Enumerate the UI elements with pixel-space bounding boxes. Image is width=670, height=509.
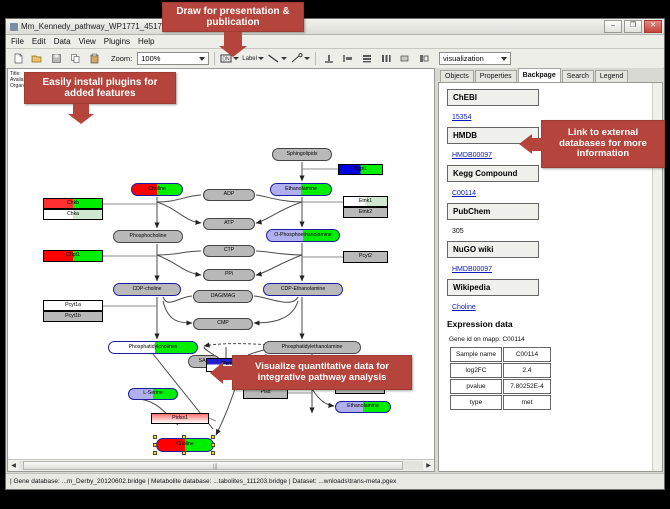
- callout-links-text: Link to external databases for more info…: [548, 128, 658, 161]
- selection-handle-s[interactable]: [182, 451, 186, 455]
- db-name-chebi: ChEBI: [447, 89, 539, 106]
- align-left-icon[interactable]: [340, 51, 356, 67]
- selection-handle-se[interactable]: [211, 451, 215, 455]
- menu-item-help[interactable]: Help: [138, 37, 154, 46]
- zoom-select[interactable]: 100%: [137, 52, 209, 65]
- receptor-tool[interactable]: [290, 53, 310, 64]
- pathway-node-label: ADP: [224, 192, 235, 197]
- expression-data-heading: Expression data: [447, 319, 654, 329]
- status-bar-text: | Gene database: ...m_Derby_20120602.bri…: [10, 478, 396, 485]
- menu-item-edit[interactable]: Edit: [32, 37, 46, 46]
- callout-visualize: Visualize quantitative data for integrat…: [232, 355, 412, 390]
- pathway-node-label: Ptdss1: [172, 416, 188, 421]
- callout-draw-stem: [224, 32, 242, 46]
- expression-gene-id: Gene id on mapp: C00114: [449, 336, 654, 343]
- pathway-node-atp[interactable]: ATP: [203, 218, 255, 230]
- pathway-node-etnk2[interactable]: Etnk2: [343, 207, 388, 218]
- pathway-node-ptdss1[interactable]: Ptdss1: [151, 413, 209, 424]
- expression-value-log2fc: 2.4: [503, 363, 551, 378]
- selection-handle-n[interactable]: [182, 435, 186, 439]
- pathway-node-phosphatidylethanolamine[interactable]: Phosphatidylethanolamine: [263, 341, 361, 354]
- open-folder-icon[interactable]: [29, 51, 45, 67]
- save-icon[interactable]: [48, 51, 64, 67]
- pathway-node-choline_selected[interactable]: Choline: [156, 438, 214, 452]
- pathway-node-label: Phosphocholine: [130, 234, 167, 239]
- pathway-node-label: CDP-Ethanolamine: [281, 287, 325, 292]
- menu-item-file[interactable]: File: [11, 37, 24, 46]
- pathway-node-label: O-Phosphoethanolamine: [274, 233, 331, 238]
- pathway-node-chkb[interactable]: Chkb: [43, 198, 103, 209]
- zoom-value: 100%: [141, 54, 160, 63]
- app-logo-icon: [10, 23, 18, 31]
- expression-key-type: type: [450, 395, 502, 410]
- callout-plugins-stem: [73, 104, 89, 114]
- pathway-node-pcyt1b[interactable]: Pcyt1b: [43, 311, 103, 322]
- pathway-node-cdpethanolamine[interactable]: CDP-Ethanolamine: [263, 283, 343, 296]
- pathway-node-label: ATP: [224, 221, 234, 226]
- line-tool[interactable]: [267, 53, 287, 64]
- pathway-node-phosphatidylcholines[interactable]: Phosphatidylcholines: [108, 341, 198, 354]
- stack-icon[interactable]: [359, 51, 375, 67]
- pathway-node-chpt1[interactable]: Chpt1: [43, 250, 103, 262]
- callout-visualize-arrow-icon: [210, 362, 223, 384]
- expression-key-sample-name: Sample name: [450, 347, 502, 362]
- size-icon[interactable]: [397, 51, 413, 67]
- db-link-kegg[interactable]: C00114: [452, 190, 476, 197]
- chevron-down-icon: [281, 57, 287, 60]
- scroll-grip-icon: |||: [213, 464, 218, 470]
- pathway-node-label: CTP: [224, 248, 234, 253]
- copy-icon[interactable]: [67, 51, 83, 67]
- pathway-canvas[interactable]: Title: Availa Organi: [7, 68, 435, 472]
- db-name-wikipedia: Wikipedia: [447, 279, 539, 296]
- pathway-node-label: Pcyt1a: [65, 303, 81, 308]
- tab-backpage[interactable]: Backpage: [518, 68, 561, 82]
- pathway-node-label: Phosphatidylethanolamine: [282, 345, 343, 350]
- callout-draw: Draw for presentation & publication: [162, 2, 304, 32]
- pathway-node-ethanolamine2[interactable]: Ethanolamine: [335, 401, 391, 413]
- db-link-hmdb[interactable]: HMDB00097: [452, 152, 492, 159]
- new-file-icon[interactable]: [10, 51, 26, 67]
- zoom-label: Zoom:: [111, 54, 132, 63]
- callout-links-arrow-icon: [519, 134, 532, 154]
- pathway-node-chka[interactable]: Chka: [43, 209, 103, 220]
- tab-legend[interactable]: Legend: [595, 70, 628, 82]
- scroll-left-icon[interactable]: ◀: [8, 461, 19, 471]
- paste-icon[interactable]: [86, 51, 102, 67]
- pathway-node-label: Etnk2: [359, 210, 372, 215]
- pathway-node-label: Sgpl1: [354, 167, 367, 172]
- pathway-node-label: Chkb: [67, 201, 79, 206]
- callout-visualize-text: Visualize quantitative data for integrat…: [239, 362, 405, 384]
- selection-handle-w[interactable]: [153, 443, 157, 447]
- expression-key-pvalue: pvalue: [450, 379, 502, 394]
- pathway-node-label: Phosphatidylcholines: [129, 345, 178, 350]
- svg-text:DN: DN: [223, 57, 231, 63]
- expression-value-type: met: [503, 395, 551, 410]
- db-link-chebi[interactable]: 15354: [452, 114, 471, 121]
- db-name-pubchem: PubChem: [447, 203, 539, 220]
- pathway-node-sgpl1[interactable]: Sgpl1: [338, 164, 383, 175]
- tab-properties[interactable]: Properties: [475, 70, 517, 82]
- toolbar-divider: [214, 52, 215, 65]
- pathway-node-label: Pisd: [260, 390, 270, 395]
- expression-value-sample-name: C00114: [503, 347, 551, 362]
- pathway-node-label: Etnk1: [359, 199, 372, 204]
- pathway-node-cmp[interactable]: CMP: [193, 318, 253, 330]
- pathway-node-pcyt1a[interactable]: Pcyt1a: [43, 300, 103, 311]
- pathway-node-adp[interactable]: ADP: [203, 189, 255, 201]
- side-panel-tabs: Objects Properties Backpage Search Legen…: [436, 68, 663, 82]
- callout-links: Link to external databases for more info…: [541, 120, 665, 168]
- pathway-node-ctp[interactable]: CTP: [203, 245, 255, 257]
- table-row: log2FC 2.4: [450, 363, 551, 378]
- pathway-node-label: Chpt1: [66, 253, 80, 258]
- pathway-node-dagmag[interactable]: DAG/MAG: [193, 290, 253, 303]
- pathway-node-sphingolipids[interactable]: Sphingolipids: [272, 148, 332, 161]
- expression-value-pvalue: 7.80252E-4: [503, 379, 551, 394]
- tab-objects[interactable]: Objects: [440, 70, 474, 82]
- callout-links-stem: [532, 138, 542, 151]
- minimize-button[interactable]: –: [604, 20, 622, 33]
- db-name-kegg: Kegg Compound: [447, 165, 539, 182]
- callout-plugins: Easily install plugins for added feature…: [24, 72, 176, 104]
- pathway-node-choline[interactable]: Choline: [131, 183, 183, 196]
- menu-item-plugins[interactable]: Plugins: [104, 37, 130, 46]
- chevron-down-icon: [501, 57, 507, 61]
- expression-key-log2fc: log2FC: [450, 363, 502, 378]
- expression-table: Sample name C00114 log2FC 2.4 pvalue 7.8…: [449, 346, 552, 411]
- db-link-wikipedia[interactable]: Choline: [452, 304, 476, 311]
- visualization-value: visualization: [443, 54, 484, 63]
- pathway-node-label: Pcyt1b: [65, 314, 81, 319]
- pathway-node-pcyt2[interactable]: Pcyt2: [343, 251, 388, 263]
- db-link-nugo[interactable]: HMDB00097: [452, 266, 492, 273]
- maximize-button[interactable]: ❐: [624, 20, 642, 33]
- db-entry-nugo: NuGO wiki HMDB00097: [447, 241, 654, 279]
- selection-handle-ne[interactable]: [211, 435, 215, 439]
- pathway-node-label: CDP-choline: [132, 287, 161, 292]
- db-name-nugo: NuGO wiki: [447, 241, 539, 258]
- pathway-node-etnk1[interactable]: Etnk1: [343, 196, 388, 207]
- toolbar-divider-2: [315, 52, 316, 65]
- window-controls: – ❐ ✕: [604, 20, 662, 33]
- chevron-down-icon: [199, 57, 205, 61]
- menu-item-data[interactable]: Data: [54, 37, 71, 46]
- callout-draw-arrow-icon: [219, 46, 247, 57]
- pathway-node-label: PPi: [225, 272, 233, 277]
- callout-draw-text: Draw for presentation & publication: [169, 6, 297, 29]
- db-entry-kegg: Kegg Compound C00114: [447, 165, 654, 203]
- title-bar: Mm_Kennedy_pathway_WP1771_45176.gpml – ❐…: [6, 19, 664, 35]
- tab-search[interactable]: Search: [562, 70, 594, 82]
- selection-handle-e[interactable]: [211, 443, 215, 447]
- db-entry-pubchem: PubChem 305: [447, 203, 654, 241]
- pathway-node-label: DAG/MAG: [211, 294, 236, 299]
- pathway-node-label: Ethanolamine: [285, 187, 317, 192]
- table-row: Sample name C00114: [450, 347, 551, 362]
- pathway-node-label: Ethanolamine: [347, 404, 379, 409]
- pathway-node-ophosphoethanolamine[interactable]: O-Phosphoethanolamine: [266, 229, 340, 242]
- align-top-icon[interactable]: [321, 51, 337, 67]
- pathway-node-label: Choline: [176, 442, 194, 447]
- order-icon[interactable]: [416, 51, 432, 67]
- close-button[interactable]: ✕: [644, 20, 662, 33]
- menu-bar: File Edit Data View Plugins Help: [6, 35, 664, 49]
- pathway-node-phosphocholine[interactable]: Phosphocholine: [113, 230, 183, 243]
- pathway-node-label: Choline: [148, 187, 166, 192]
- toolbar: Zoom: 100% DN Label: [6, 49, 664, 69]
- callout-visualize-stem: [223, 366, 233, 380]
- chevron-down-icon: [258, 57, 264, 60]
- pathway-node-lserine2[interactable]: L-Serine: [128, 388, 178, 400]
- selection-handle-nw[interactable]: [153, 435, 157, 439]
- pathway-node-ppi[interactable]: PPi: [203, 269, 255, 281]
- table-row: pvalue 7.80252E-4: [450, 379, 551, 394]
- pathway-node-label: Pcyt2: [359, 254, 372, 259]
- pathway-node-ethanolamine1[interactable]: Ethanolamine: [270, 183, 332, 196]
- scroll-right-icon[interactable]: ▶: [423, 461, 434, 471]
- pathway-node-label: CMP: [217, 321, 229, 326]
- callout-plugins-text: Easily install plugins for added feature…: [31, 77, 169, 100]
- chevron-down-icon: [304, 57, 310, 60]
- scroll-track[interactable]: |||: [19, 461, 423, 470]
- db-entry-wikipedia: Wikipedia Choline: [447, 279, 654, 317]
- pathway-node-label: Chka: [67, 212, 79, 217]
- screenshot-root: Mm_Kennedy_pathway_WP1771_45176.gpml – ❐…: [0, 0, 670, 509]
- chevron-down-icon: [233, 57, 239, 60]
- pathway-node-label: L-Serine: [143, 391, 163, 396]
- callout-plugins-arrow-icon: [68, 114, 94, 124]
- canvas-horizontal-scrollbar[interactable]: ◀ ||| ▶: [8, 459, 434, 471]
- scroll-thumb[interactable]: |||: [23, 461, 403, 470]
- db-value-pubchem: 305: [452, 228, 464, 235]
- pathway-node-label: Sphingolipids: [287, 152, 318, 157]
- pathway-node-cdpcholine[interactable]: CDP-choline: [113, 283, 181, 296]
- visualization-select[interactable]: visualization: [439, 52, 511, 65]
- table-row: type met: [450, 395, 551, 410]
- status-bar: | Gene database: ...m_Derby_20120602.bri…: [6, 473, 664, 489]
- menu-item-view[interactable]: View: [79, 37, 96, 46]
- selection-handle-sw[interactable]: [153, 451, 157, 455]
- distribute-icon[interactable]: [378, 51, 394, 67]
